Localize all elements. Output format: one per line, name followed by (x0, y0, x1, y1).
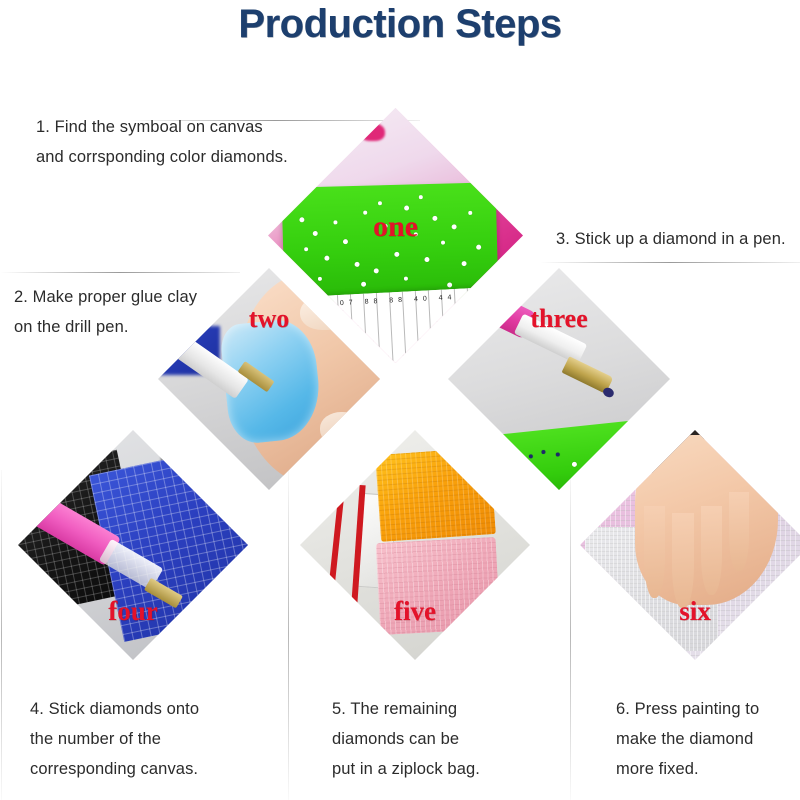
step-caption-4: 4. Stick diamonds onto the number of the… (30, 694, 270, 784)
photo-four-scene (18, 430, 248, 660)
pink-diamonds-bag (376, 537, 500, 635)
photo-six-scene (580, 430, 800, 660)
green-diamond-tray (282, 182, 499, 302)
divider-line-step2 (0, 272, 240, 273)
step-photo-five[interactable]: five (300, 430, 530, 660)
photo-three-scene (448, 268, 670, 490)
step-photo-six[interactable]: six (580, 430, 800, 660)
step-caption-1: 1. Find the symboal on canvas and corrsp… (36, 112, 346, 172)
step-caption-2: 2. Make proper glue clay on the drill pe… (14, 282, 244, 342)
pressing-hand (635, 435, 778, 605)
step-caption-6: 6. Press painting to make the diamond mo… (616, 694, 800, 784)
step-caption-5: 5. The remaining diamonds can be put in … (332, 694, 572, 784)
orange-diamonds-bag (375, 447, 496, 542)
divider-line-step3 (540, 262, 800, 263)
page-title: Production Steps (0, 2, 800, 47)
finger-nail (320, 412, 364, 445)
photo-five-scene (300, 430, 530, 660)
divider-line-left (1, 470, 2, 800)
step-photo-four[interactable]: four (18, 430, 248, 660)
step-caption-3: 3. Stick up a diamond in a pen. (556, 224, 800, 254)
heart-decoration-icon (360, 123, 386, 141)
divider-line-mid (288, 470, 289, 800)
step-photo-three[interactable]: three (448, 268, 670, 490)
infographic-page: Production Steps (0, 0, 800, 800)
